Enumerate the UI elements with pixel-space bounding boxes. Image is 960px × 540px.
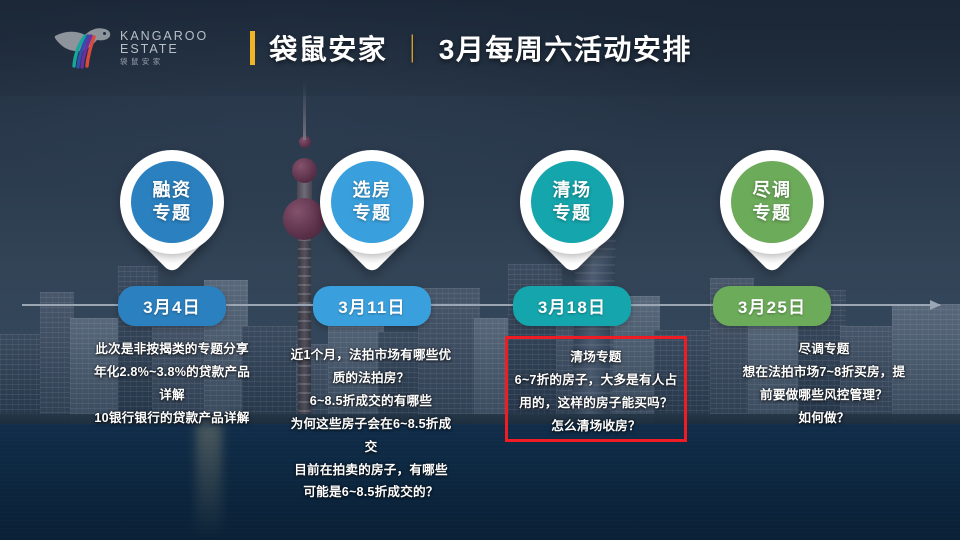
date-pill[interactable]: 3月4日 (118, 286, 226, 326)
brand-line-3: 袋鼠安家 (120, 58, 208, 66)
pin-label-line1: 融资 (153, 179, 192, 202)
page-title-main: 袋鼠安家 (269, 28, 387, 68)
timeline-node[interactable]: 融资专题3月4日 (72, 150, 272, 326)
timeline-node[interactable]: 尽调专题3月25日 (672, 150, 872, 326)
highlight-box (505, 336, 687, 442)
pin-label: 选房专题 (331, 161, 413, 243)
date-pill[interactable]: 3月25日 (713, 286, 831, 326)
page-title: 袋鼠安家 ｜ 3月每周六活动安排 (269, 28, 692, 68)
pin-label-line1: 选房 (353, 179, 392, 202)
timeline-node[interactable]: 清场专题3月18日 (472, 150, 672, 326)
pin-label: 尽调专题 (731, 161, 813, 243)
title-separator: ｜ (398, 28, 428, 68)
date-pill[interactable]: 3月11日 (313, 286, 430, 326)
map-pin-icon[interactable]: 选房专题 (320, 150, 424, 278)
pin-label: 融资专题 (131, 161, 213, 243)
node-description: 此次是非按揭类的专题分享 年化2.8%~3.8%的贷款产品 详解 10银行银行的… (48, 338, 296, 430)
date-pill[interactable]: 3月18日 (513, 286, 631, 326)
brand-line-2: ESTATE (120, 43, 208, 56)
timeline-node[interactable]: 选房专题3月11日 (272, 150, 472, 326)
kangaroo-logo-icon (52, 20, 114, 76)
header-title-group: 袋鼠安家 ｜ 3月每周六活动安排 (250, 28, 692, 68)
title-accent-bar (250, 31, 255, 65)
pin-label-line1: 尽调 (753, 179, 792, 202)
node-description: 近1个月，法拍市场有哪些优 质的法拍房？ 6~8.5折成交的有哪些 为何这些房子… (266, 344, 476, 504)
map-pin-icon[interactable]: 尽调专题 (720, 150, 824, 278)
page-title-sub: 3月每周六活动安排 (439, 28, 692, 68)
brand-line-1: KANGAROO (120, 30, 208, 43)
brand-wordmark: KANGAROO ESTATE 袋鼠安家 (120, 30, 208, 66)
node-description: 尽调专题 想在法拍市场7~8折买房，提 前要做哪些风控管理？ 如何做？ (706, 338, 942, 430)
pin-label-line1: 清场 (553, 179, 592, 202)
brand-logo: KANGAROO ESTATE 袋鼠安家 (52, 20, 208, 76)
page-header: KANGAROO ESTATE 袋鼠安家 袋鼠安家 ｜ 3月每周六活动安排 (0, 0, 960, 96)
pin-label: 清场专题 (531, 161, 613, 243)
pin-label-line2: 专题 (153, 202, 192, 225)
pin-label-line2: 专题 (753, 202, 792, 225)
map-pin-icon[interactable]: 融资专题 (120, 150, 224, 278)
map-pin-icon[interactable]: 清场专题 (520, 150, 624, 278)
pin-label-line2: 专题 (553, 202, 592, 225)
pin-label-line2: 专题 (353, 202, 392, 225)
